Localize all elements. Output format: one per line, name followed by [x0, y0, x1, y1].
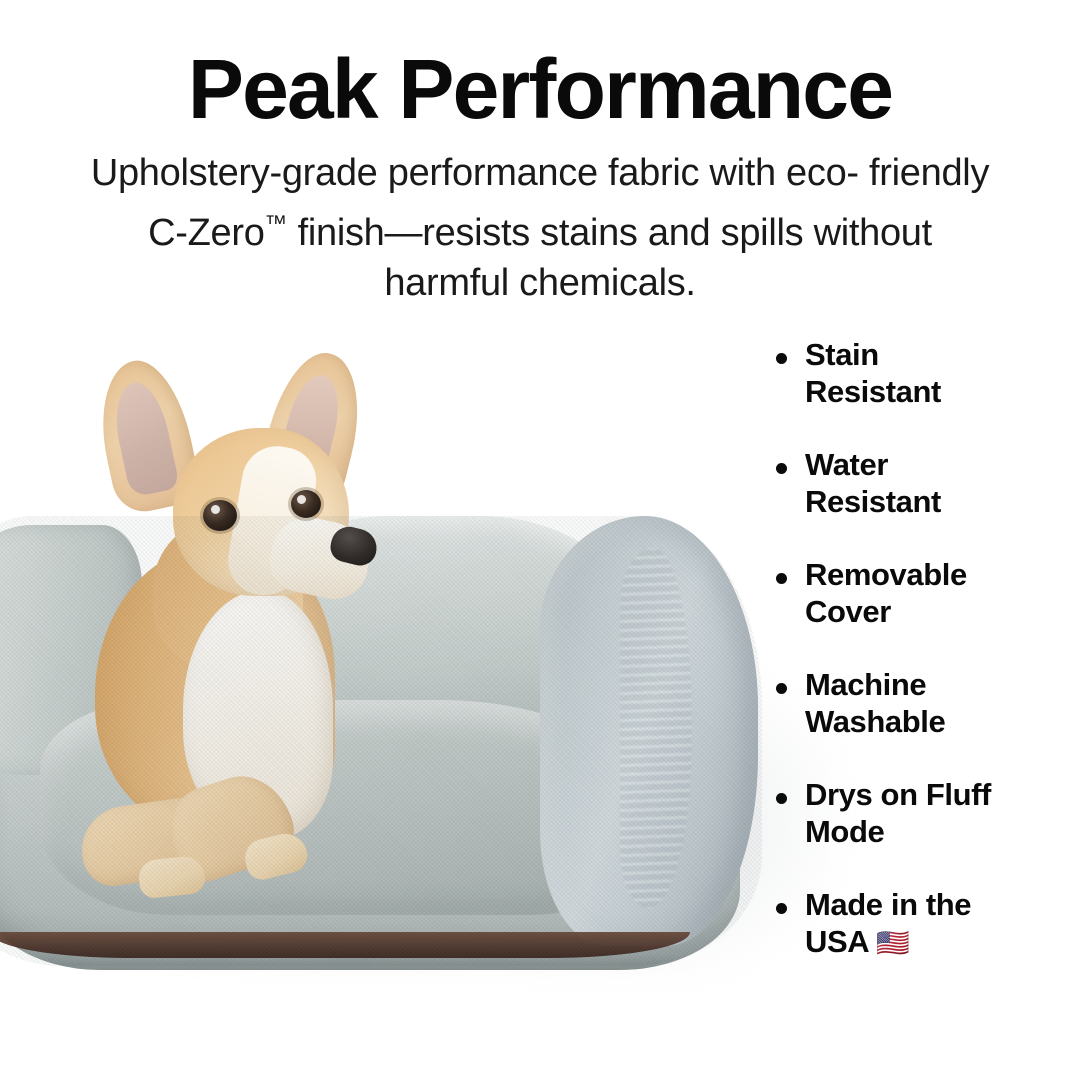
dog-left-eye	[203, 500, 237, 531]
dog-left-eye-highlight	[211, 505, 220, 514]
list-item: Water Resistant	[776, 446, 1076, 520]
bullet-icon	[776, 573, 787, 584]
bullet-icon	[776, 353, 787, 364]
list-item: Removable Cover	[776, 556, 1076, 630]
bullet-icon	[776, 463, 787, 474]
list-item: Drys on Fluff Mode	[776, 776, 1076, 850]
list-item: Made in the USA 🇺🇸	[776, 886, 1076, 962]
bullet-icon	[776, 683, 787, 694]
promo-card: Peak Performance Upholstery-grade perfor…	[0, 0, 1080, 1080]
subtitle-line-1: Upholstery-grade performance fabric with…	[91, 152, 859, 194]
subtitle: Upholstery-grade performance fabric with…	[90, 148, 990, 308]
list-item: Stain Resistant	[776, 336, 1076, 410]
dog-illustration	[75, 350, 415, 870]
trademark-symbol: ™	[265, 210, 288, 236]
page-title: Peak Performance	[0, 47, 1080, 131]
bullet-icon	[776, 793, 787, 804]
feature-label-made-in-usa: Made in the USA 🇺🇸	[805, 886, 1076, 962]
feature-label-stain-resistant: Stain Resistant	[805, 336, 1076, 410]
feature-label-removable-cover: Removable Cover	[805, 556, 1076, 630]
list-item: Machine Washable	[776, 666, 1076, 740]
feature-list: Stain Resistant Water Resistant Removabl…	[776, 336, 1076, 962]
dog-right-eye	[291, 490, 321, 518]
subtitle-line-2-b: finish—resists stains and spills	[287, 212, 803, 254]
dog-bed-piping	[0, 932, 690, 958]
feature-label-drys-on-fluff-mode: Drys on Fluff Mode	[805, 776, 1076, 850]
product-photo	[0, 320, 780, 960]
feature-label-water-resistant: Water Resistant	[805, 446, 1076, 520]
bullet-icon	[776, 903, 787, 914]
dog-right-eye-highlight	[297, 495, 306, 504]
us-flag-icon: 🇺🇸	[876, 928, 910, 958]
feature-label-machine-washable: Machine Washable	[805, 666, 1076, 740]
